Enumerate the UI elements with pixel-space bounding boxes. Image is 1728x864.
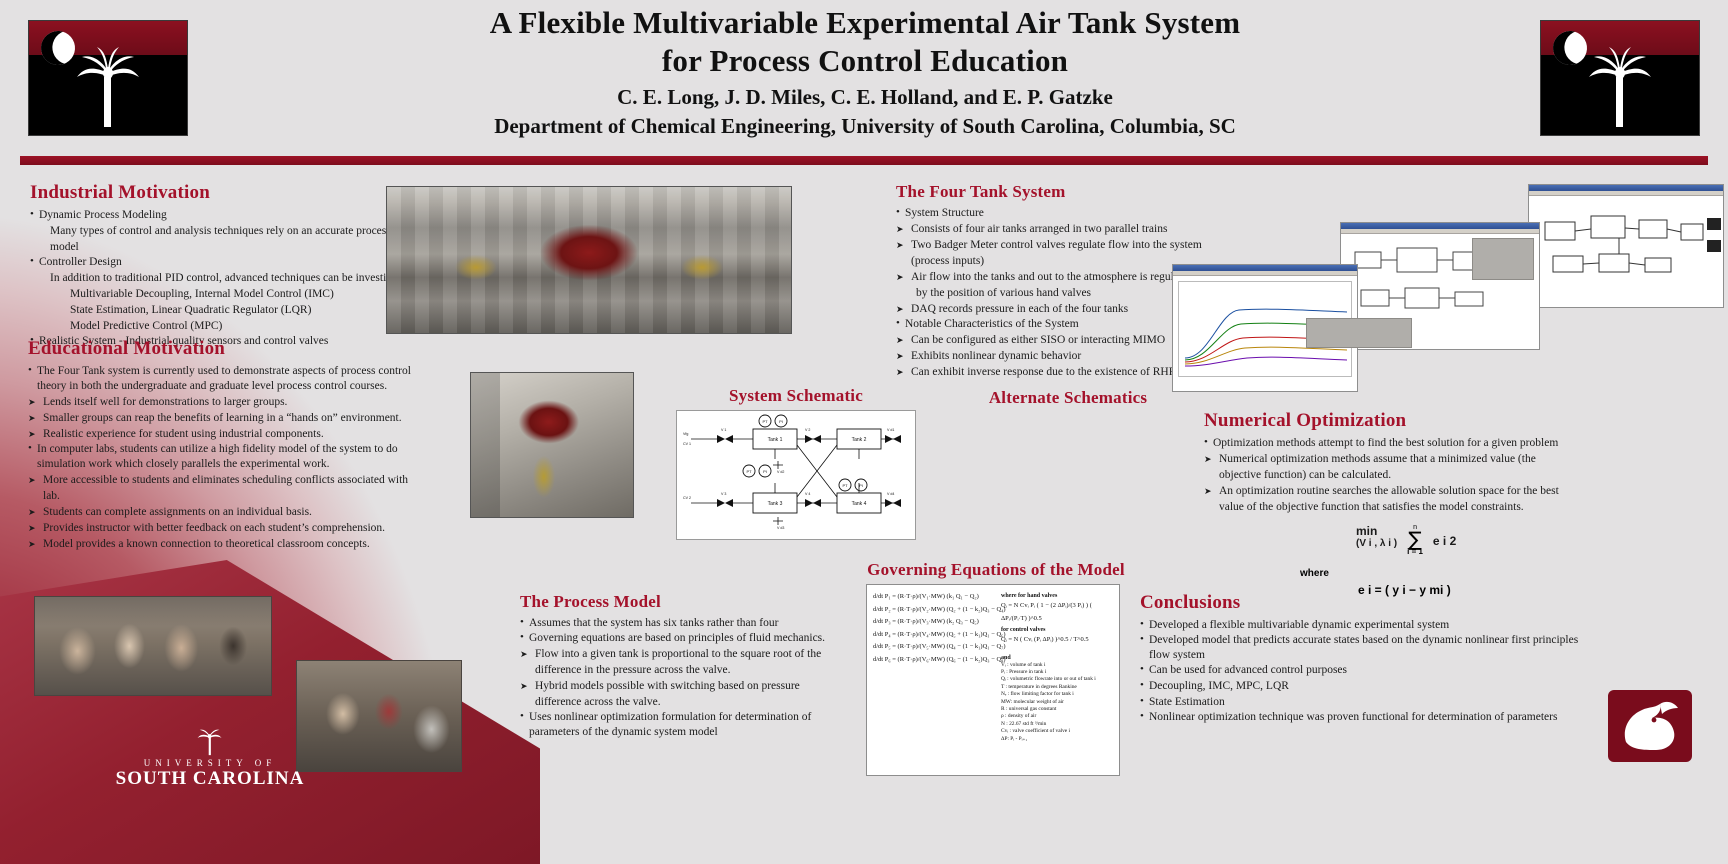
svg-text:V d3: V d3 <box>777 526 784 530</box>
list-item: State Estimation, Linear Quadratic Regul… <box>30 302 415 318</box>
svg-text:PI: PI <box>779 419 783 424</box>
summation-icon: ∑ <box>1407 531 1423 547</box>
list-item: Provides instructor with better feedback… <box>28 520 420 536</box>
equation-line: d/dt P₅ = (R·T·ρ)/(V₅·MW) (Q₄ − (1 − k₁)… <box>873 641 993 654</box>
list-item: More accessible to students and eliminat… <box>28 472 420 504</box>
system-schematic-diagram: Tank 1 Tank 2 Tank 3 Tank 4 PT PI PT PI … <box>676 410 916 540</box>
list-item: Students can complete assignments on an … <box>28 504 420 520</box>
nomenclature-item: Cvᵢ : valve coefficient of valve i <box>1001 728 1117 735</box>
svg-text:PI: PI <box>859 483 863 488</box>
svg-text:Vfg: Vfg <box>683 432 688 436</box>
educational-motivation-heading: Educational Motivation <box>28 338 420 360</box>
list-item: Numerical optimization methods assume th… <box>1204 451 1574 483</box>
list-item: Assumes that the system has six tanks ra… <box>520 616 840 631</box>
governing-equations-panel: d/dt P₁ = (R·T·ρ)/(V₁·MW) (k₁ Q₁ − Q₂)d/… <box>866 584 1120 776</box>
svg-text:V d4: V d4 <box>887 492 894 496</box>
nomenclature-item: ΔP: Pᵢ - Pᵢ₊₁ <box>1001 736 1117 743</box>
where-label: where <box>1300 568 1570 579</box>
industrial-motivation-list: Dynamic Process ModelingMany types of co… <box>30 208 415 349</box>
south-carolina-flag-left <box>28 20 188 136</box>
list-item: Developed a flexible multivariable dynam… <box>1140 618 1580 633</box>
svg-text:Tank 1: Tank 1 <box>768 437 783 443</box>
section-industrial-motivation: Industrial Motivation Dynamic Process Mo… <box>30 182 415 349</box>
svg-text:PT: PT <box>762 419 768 424</box>
svg-text:V d2: V d2 <box>777 470 784 474</box>
industrial-motivation-heading: Industrial Motivation <box>30 182 415 204</box>
svg-text:CV 1: CV 1 <box>683 442 691 446</box>
list-item: Nonlinear optimization technique was pro… <box>1140 710 1580 725</box>
nomenclature-item: T : temperature in degrees Rankine <box>1001 684 1117 691</box>
sum-lower-limit: i = 1 <box>1407 547 1423 556</box>
usc-wordmark-logo: UNIVERSITY OF SOUTH CAROLINA <box>104 726 316 790</box>
objective-term: e i 2 <box>1433 524 1456 548</box>
window-toolbar <box>1173 271 1357 276</box>
list-item: Dynamic Process Modeling <box>30 208 415 223</box>
section-conclusions: Conclusions Developed a flexible multiva… <box>1140 592 1580 725</box>
svg-text:V 4: V 4 <box>805 492 810 496</box>
svg-text:Tank 2: Tank 2 <box>852 437 867 443</box>
nomenclature-item: Qᵢ : volumetric flowrate into or out of … <box>1001 676 1117 683</box>
list-item: An optimization routine searches the all… <box>1204 483 1574 515</box>
system-schematic-heading: System Schematic <box>676 386 916 406</box>
numerical-optimization-list: Optimization methods attempt to find the… <box>1204 436 1574 515</box>
system-schematic-heading-wrap: System Schematic <box>676 386 916 406</box>
svg-text:CV 2: CV 2 <box>683 496 691 500</box>
list-item: Model provides a known connection to the… <box>28 536 420 552</box>
and-label: and <box>1001 655 1117 661</box>
students-at-computers-photo <box>34 596 272 696</box>
poster-title-line-1: A Flexible Multivariable Experimental Ai… <box>280 4 1450 42</box>
svg-text:PI: PI <box>763 469 767 474</box>
students-at-apparatus-photo <box>296 660 462 772</box>
usc-logo-line-2: SOUTH CAROLINA <box>104 768 316 790</box>
south-carolina-flag-right <box>1540 20 1700 136</box>
poster-canvas: A Flexible Multivariable Experimental Ai… <box>0 0 1728 864</box>
control-valve-equation: Qᵢ = N ( Cvᵢ (Pᵢ ΔPᵢ) )^0.5 / T^0.5 <box>1001 634 1117 647</box>
gamecock-logo <box>1608 690 1692 762</box>
palmetto-tree-icon <box>193 726 227 756</box>
list-item: Model Predictive Control (MPC) <box>30 318 415 334</box>
palmetto-tree-icon <box>1585 47 1655 127</box>
svg-text:V 3: V 3 <box>721 492 726 496</box>
poster-header: A Flexible Multivariable Experimental Ai… <box>0 0 1728 160</box>
screenshot-overlap-block <box>1306 318 1412 348</box>
list-item: Flow into a given tank is proportional t… <box>520 646 840 678</box>
equation-line: d/dt P₁ = (R·T·ρ)/(V₁·MW) (k₁ Q₁ − Q₂) <box>873 591 993 604</box>
svg-text:Tank 3: Tank 3 <box>768 501 783 507</box>
svg-text:V 1: V 1 <box>721 428 726 432</box>
optimization-equation-block: min (V i , λ i ) n ∑ i = 1 e i 2 where e… <box>1300 524 1570 597</box>
ode-equation-column: d/dt P₁ = (R·T·ρ)/(V₁·MW) (k₁ Q₁ − Q₂)d/… <box>873 591 993 666</box>
hand-valve-header: where for hand valves <box>1001 593 1117 599</box>
title-block: A Flexible Multivariable Experimental Ai… <box>280 4 1450 139</box>
list-item: State Estimation <box>1140 694 1580 710</box>
control-valve-closeup-photo <box>470 372 634 518</box>
nomenclature-item: ρ : density of air <box>1001 713 1117 720</box>
list-item: Developed model that predicts accurate s… <box>1140 633 1580 663</box>
control-valve-header: for control valves <box>1001 627 1117 633</box>
four-tank-apparatus-photo <box>386 186 792 334</box>
conclusions-list: Developed a flexible multivariable dynam… <box>1140 618 1580 725</box>
section-numerical-optimization: Numerical Optimization Optimization meth… <box>1204 410 1574 515</box>
governing-equations-heading: Governing Equations of the Model <box>856 560 1136 580</box>
screenshot-overlap-block <box>1472 238 1534 280</box>
block-diagram-graphic <box>1529 196 1724 304</box>
section-educational-motivation: Educational Motivation The Four Tank sys… <box>28 338 420 552</box>
list-item: In computer labs, students can utilize a… <box>28 442 420 472</box>
gamecock-icon <box>1608 690 1692 762</box>
nomenclature-item: Nₑ : flow limiting factor for tank i <box>1001 691 1117 698</box>
list-item: System Structure <box>896 206 1226 221</box>
list-item: Consists of four air tanks arranged in t… <box>896 221 1226 237</box>
nomenclature-item: MW: molecular weight of air <box>1001 699 1117 706</box>
list-item: Lends itself well for demonstrations to … <box>28 394 420 410</box>
numerical-optimization-heading: Numerical Optimization <box>1204 410 1574 432</box>
educational-motivation-list: The Four Tank system is currently used t… <box>28 364 420 552</box>
list-item: Decoupling, IMC, MPC, LQR <box>1140 678 1580 694</box>
equation-line: d/dt P₄ = (R·T·ρ)/(V₄·MW) (Q₅ + (1 − k₁)… <box>873 629 993 642</box>
valve-equation-column: where for hand valves Qᵢ = N Cvᵢ Pᵢ ( 1 … <box>1001 591 1117 743</box>
list-item: Smaller groups can reap the benefits of … <box>28 410 420 426</box>
four-tank-pid-diagram: Tank 1 Tank 2 Tank 3 Tank 4 PT PI PT PI … <box>677 411 915 539</box>
equation-line: d/dt P₆ = (R·T·ρ)/(V₆·MW) (Q₆ − (1 − k₂)… <box>873 654 993 667</box>
header-divider-rule <box>20 156 1708 165</box>
list-item: The Four Tank system is currently used t… <box>28 364 420 394</box>
process-model-list: Assumes that the system has six tanks ra… <box>520 616 840 740</box>
process-model-heading: The Process Model <box>520 592 840 612</box>
list-item: Multivariable Decoupling, Internal Model… <box>30 286 415 302</box>
governing-equations-heading-wrap: Governing Equations of the Model <box>856 560 1136 580</box>
svg-text:Tank 4: Tank 4 <box>852 501 867 507</box>
nomenclature-item: Vᵢ : volume of tank i <box>1001 662 1117 669</box>
svg-text:PT: PT <box>842 483 848 488</box>
min-variables: (V i , λ i ) <box>1356 538 1397 549</box>
svg-text:V 2: V 2 <box>805 428 810 432</box>
svg-text:PT: PT <box>746 469 752 474</box>
section-process-model: The Process Model Assumes that the syste… <box>520 592 840 740</box>
list-item: Controller Design <box>30 255 415 270</box>
four-tank-system-heading: The Four Tank System <box>896 182 1226 202</box>
list-item: Uses nonlinear optimization formulation … <box>520 710 840 740</box>
min-label: min <box>1356 524 1397 538</box>
poster-title-line-2: for Process Control Education <box>280 42 1450 80</box>
alternate-schematics-heading: Alternate Schematics <box>968 388 1168 408</box>
author-list: C. E. Long, J. D. Miles, C. E. Holland, … <box>280 85 1450 110</box>
equation-line: d/dt P₃ = (R·T·ρ)/(V₃·MW) (k₂ Q₃ − Q₅) <box>873 616 993 629</box>
equation-line: d/dt P₂ = (R·T·ρ)/(V₂·MW) (Q₂ + (1 − k₂)… <box>873 604 993 617</box>
list-item: Many types of control and analysis techn… <box>30 223 415 255</box>
affiliation: Department of Chemical Engineering, Univ… <box>280 114 1450 139</box>
usc-logo-line-1: UNIVERSITY OF <box>104 758 316 768</box>
svg-text:V d1: V d1 <box>887 428 894 432</box>
nomenclature-list: Vᵢ : volume of tank iPᵢ : Pressure in ta… <box>1001 662 1117 743</box>
list-item: Governing equations are based on princip… <box>520 631 840 646</box>
list-item: Realistic experience for student using i… <box>28 426 420 442</box>
palmetto-tree-icon <box>73 47 143 127</box>
alternate-schematics-heading-wrap: Alternate Schematics <box>968 388 1168 408</box>
simulink-block-diagram-screenshot <box>1528 184 1724 308</box>
list-item: In addition to traditional PID control, … <box>30 270 415 286</box>
list-item: Can be used for advanced control purpose… <box>1140 663 1580 678</box>
hand-valve-equation: Qᵢ = N Cvᵢ Pᵢ ( 1 − (2 ΔPᵢ)/(3 Pᵢ) ) ( Δ… <box>1001 600 1117 625</box>
conclusions-heading: Conclusions <box>1140 592 1580 614</box>
list-item: Optimization methods attempt to find the… <box>1204 436 1574 451</box>
list-item: Hybrid models possible with switching ba… <box>520 678 840 710</box>
